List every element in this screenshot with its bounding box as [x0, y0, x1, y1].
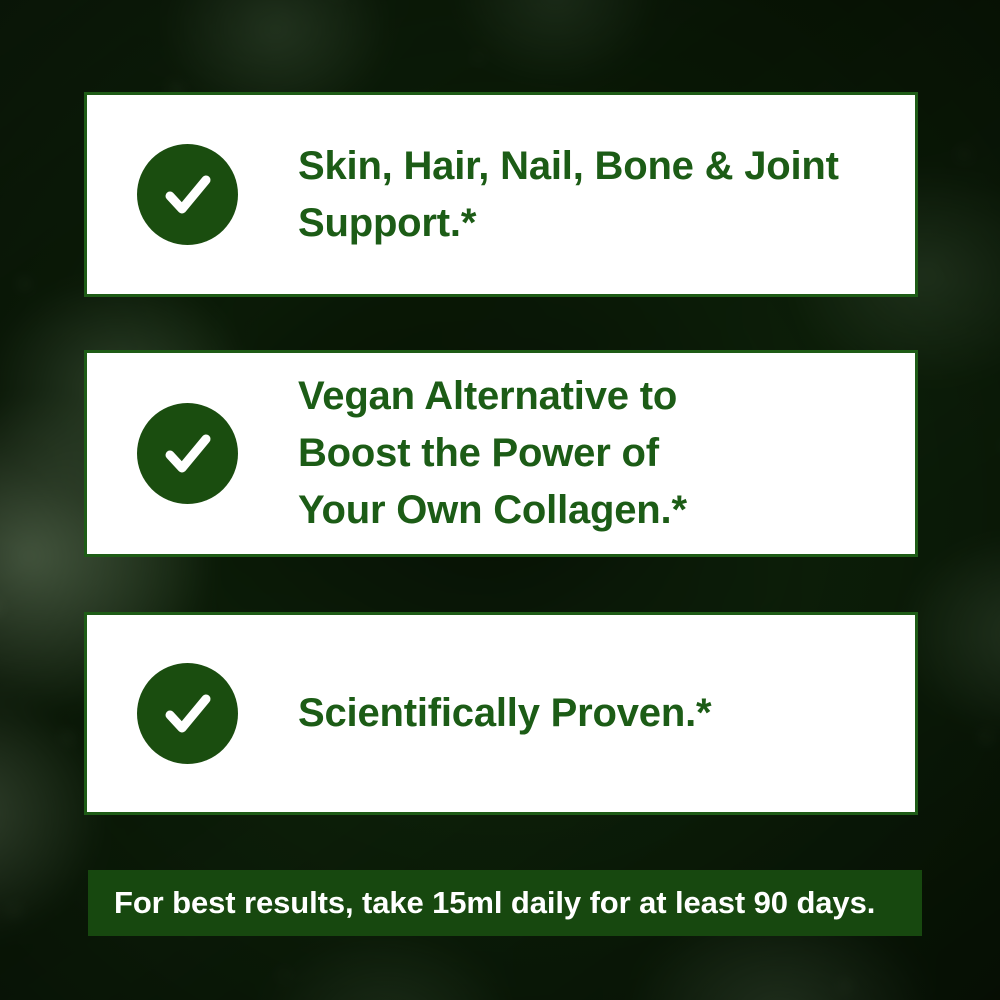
benefit-text-3: Scientifically Proven.*: [298, 685, 711, 742]
benefit-text-2: Vegan Alternative to Boost the Power of …: [298, 368, 687, 538]
usage-instruction-banner: For best results, take 15ml daily for at…: [88, 870, 922, 936]
benefit-card-1: Skin, Hair, Nail, Bone & Joint Support.*: [84, 92, 918, 297]
checkmark-icon: [137, 144, 238, 245]
benefit-text-1: Skin, Hair, Nail, Bone & Joint Support.*: [298, 138, 839, 252]
benefit-card-2: Vegan Alternative to Boost the Power of …: [84, 350, 918, 557]
benefit-card-3: Scientifically Proven.*: [84, 612, 918, 815]
checkmark-icon: [137, 663, 238, 764]
usage-instruction-text: For best results, take 15ml daily for at…: [114, 885, 875, 921]
checkmark-icon: [137, 403, 238, 504]
